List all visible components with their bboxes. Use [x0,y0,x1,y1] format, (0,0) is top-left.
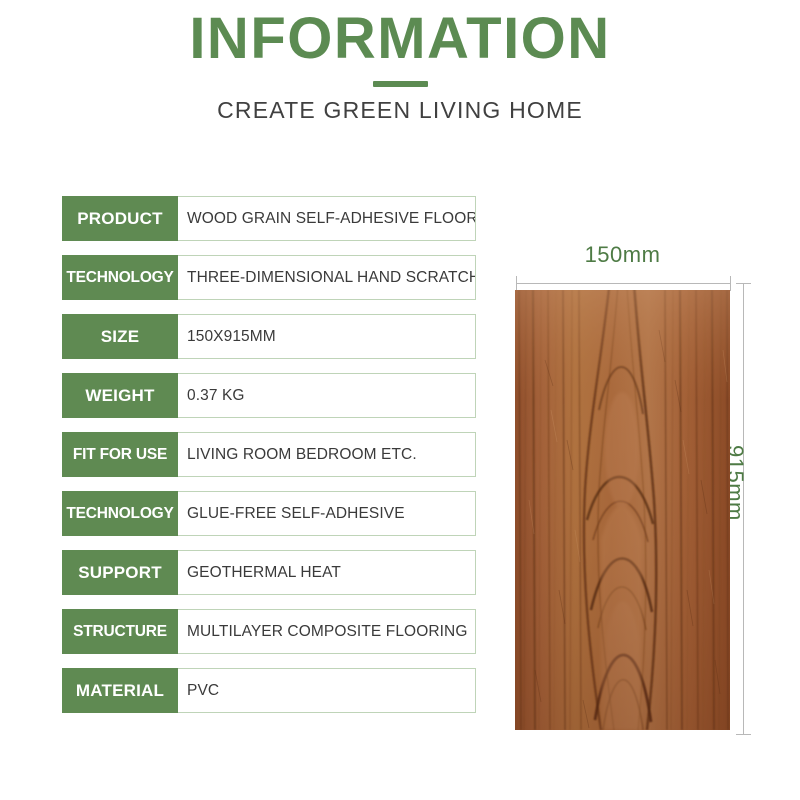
title-divider-wrap [0,71,800,97]
page-title: INFORMATION [0,0,800,71]
table-row: TECHNOLOGY THREE-DIMENSIONAL HAND SCRATC… [62,255,476,300]
table-row: STRUCTURE MULTILAYER COMPOSITE FLOORING [62,609,476,654]
table-row: SUPPORT GEOTHERMAL HEAT [62,550,476,595]
spec-value-material: PVC [178,668,476,713]
spec-label-weight: WEIGHT [62,373,178,418]
spec-value-technology-1: THREE-DIMENSIONAL HAND SCRATCHES [178,255,476,300]
table-row: WEIGHT 0.37 KG [62,373,476,418]
dimension-width-label: 150mm [515,242,730,268]
spec-label-material: MATERIAL [62,668,178,713]
table-row: TECHNOLOGY GLUE-FREE SELF-ADHESIVE [62,491,476,536]
spec-value-weight: 0.37 KG [178,373,476,418]
spec-value-technology-2: GLUE-FREE SELF-ADHESIVE [178,491,476,536]
page-header: INFORMATION CREATE GREEN LIVING HOME [0,0,800,124]
spec-value-product: WOOD GRAIN SELF-ADHESIVE FLOORING [178,196,476,241]
wood-grain-sample-image [515,290,730,730]
spec-label-structure: STRUCTURE [62,609,178,654]
table-row: PRODUCT WOOD GRAIN SELF-ADHESIVE FLOORIN… [62,196,476,241]
wood-grain-svg [515,290,730,730]
table-row: MATERIAL PVC [62,668,476,713]
spec-label-fit-for-use: FIT FOR USE [62,432,178,477]
dimension-width-line [516,283,731,284]
spec-label-support: SUPPORT [62,550,178,595]
spec-label-size: SIZE [62,314,178,359]
spec-label-product: PRODUCT [62,196,178,241]
table-row: FIT FOR USE LIVING ROOM BEDROOM ETC. [62,432,476,477]
page-subtitle: CREATE GREEN LIVING HOME [0,97,800,124]
spec-value-support: GEOTHERMAL HEAT [178,550,476,595]
specification-table: PRODUCT WOOD GRAIN SELF-ADHESIVE FLOORIN… [62,196,476,727]
spec-value-structure: MULTILAYER COMPOSITE FLOORING [178,609,476,654]
spec-value-fit-for-use: LIVING ROOM BEDROOM ETC. [178,432,476,477]
table-row: SIZE 150X915MM [62,314,476,359]
product-sample-area: 150mm 915mm [495,240,795,760]
spec-label-technology-2: TECHNOLOGY [62,491,178,536]
spec-label-technology-1: TECHNOLOGY [62,255,178,300]
spec-value-size: 150X915MM [178,314,476,359]
title-divider [373,81,428,87]
